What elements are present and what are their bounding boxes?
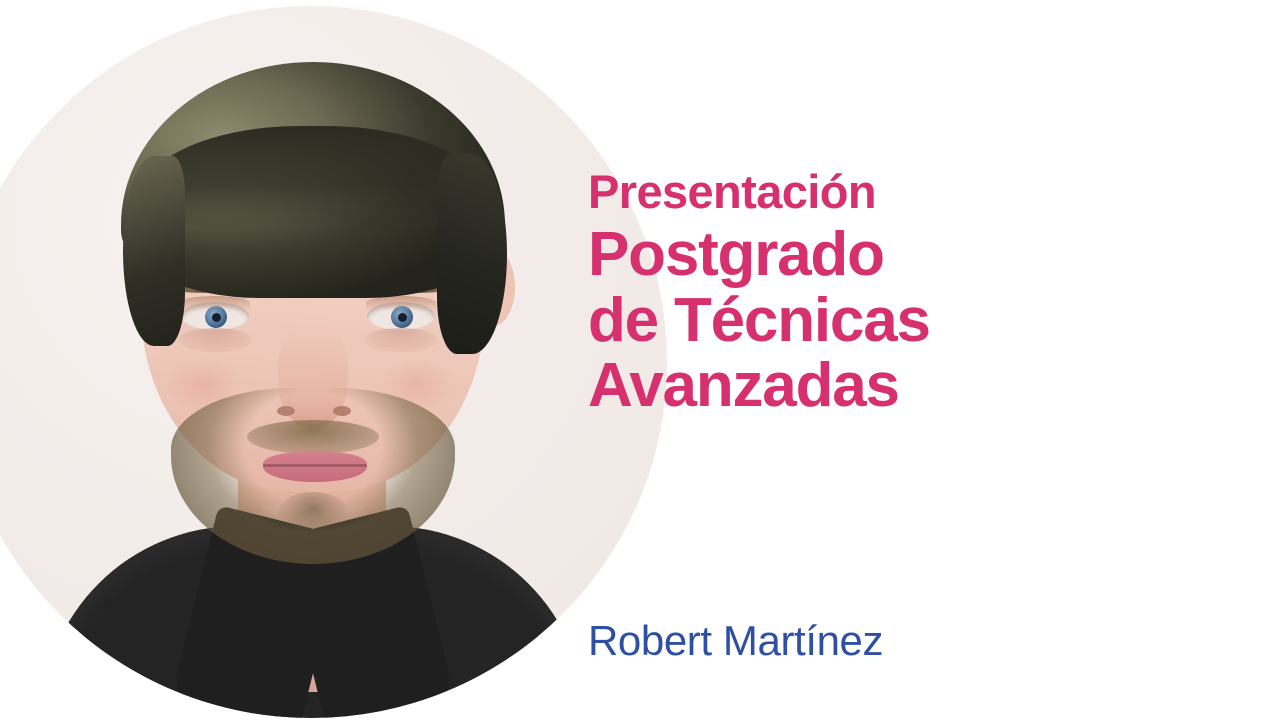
circular-photo-frame xyxy=(0,6,667,718)
pupil-left xyxy=(212,313,221,322)
under-eye-left xyxy=(178,328,252,352)
nostril-left xyxy=(277,406,295,416)
headline-line-1: Postgrado xyxy=(588,222,1248,288)
chin-beard-patch xyxy=(277,492,349,534)
under-eye-right xyxy=(364,328,438,352)
presenter-name: Robert Martínez xyxy=(588,620,883,662)
mouth xyxy=(263,452,367,482)
portrait-block xyxy=(0,6,667,718)
hair-side-left xyxy=(123,156,185,346)
eyelid-right xyxy=(366,296,436,310)
pupil-right xyxy=(398,313,407,322)
moustache xyxy=(247,420,379,454)
mouth-line xyxy=(263,464,367,467)
eyelid-left xyxy=(180,296,250,310)
text-block: Presentación Postgrado de Técnicas Avanz… xyxy=(588,0,1248,720)
eyebrow-title: Presentación xyxy=(588,168,1248,216)
presentation-slide: Presentación Postgrado de Técnicas Avanz… xyxy=(0,0,1280,720)
title-group: Presentación Postgrado de Técnicas Avanz… xyxy=(588,168,1248,419)
nostril-right xyxy=(333,406,351,416)
hair-side-right xyxy=(437,154,507,354)
headline-line-3: Avanzadas xyxy=(588,353,1248,419)
headline-line-2: de Técnicas xyxy=(588,288,1248,354)
